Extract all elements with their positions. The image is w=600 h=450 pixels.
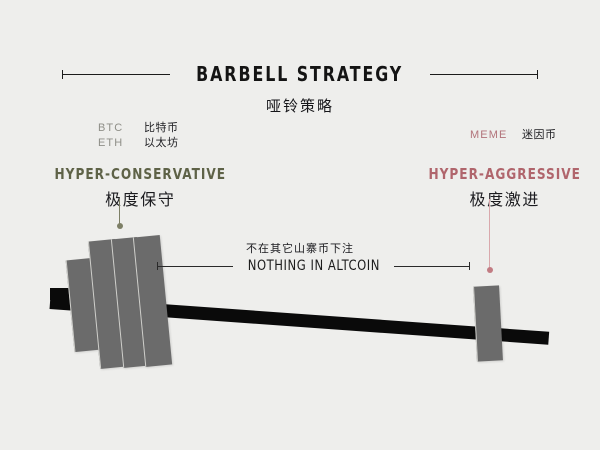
ticker-symbol: MEME <box>470 128 522 143</box>
ticker-symbol: ETH <box>98 136 144 151</box>
page-title-row: BARBELL STRATEGY <box>0 62 600 86</box>
ticker-name-cn: 以太坊 <box>144 136 179 151</box>
title-rule-left <box>62 74 170 75</box>
center-caption-cn: 不在其它山寨币下注 <box>0 240 600 256</box>
ticker-item-meme: MEME 迷因币 <box>470 128 557 143</box>
ticker-name-cn: 迷因币 <box>522 128 557 143</box>
center-caption-en: NOTHING IN ALTCOIN <box>247 258 379 274</box>
infographic-canvas: BARBELL STRATEGY 哑铃策略 BTC 比特币 ETH 以太坊 ME… <box>0 0 600 450</box>
label-hyper-aggressive-en: HYPER-AGGRESSIVE <box>428 165 580 183</box>
connector-dot-left <box>117 223 123 229</box>
weight-plate-left-3 <box>111 237 149 368</box>
weight-plate-right-1 <box>473 285 503 361</box>
connector-dot-right <box>487 267 493 273</box>
ticker-list-conservative: BTC 比特币 ETH 以太坊 <box>98 121 179 151</box>
center-rule-left <box>157 266 233 267</box>
center-rule-right <box>394 266 470 267</box>
label-hyper-conservative-en: HYPER-CONSERVATIVE <box>55 165 227 183</box>
label-hyper-aggressive-cn: 极度激进 <box>420 186 589 210</box>
connector-line-right <box>489 199 490 270</box>
ticker-list-aggressive: MEME 迷因币 <box>470 128 557 143</box>
ticker-item-eth: ETH 以太坊 <box>98 136 179 151</box>
ticker-item-btc: BTC 比特币 <box>98 121 179 136</box>
barbell-bar-end-cap-left <box>50 288 69 300</box>
page-subtitle: 哑铃策略 <box>0 95 600 116</box>
barbell-bar <box>50 296 550 345</box>
connector-line-left <box>119 199 120 226</box>
center-caption-row: NOTHING IN ALTCOIN <box>157 258 470 274</box>
label-hyper-conservative: HYPER-CONSERVATIVE 极度保守 <box>45 165 236 210</box>
weight-plate-left-2 <box>88 239 127 369</box>
label-hyper-aggressive: HYPER-AGGRESSIVE 极度激进 <box>420 165 589 210</box>
ticker-name-cn: 比特币 <box>144 121 179 136</box>
ticker-symbol: BTC <box>98 121 144 136</box>
label-hyper-conservative-cn: 极度保守 <box>45 186 236 210</box>
title-rule-right <box>430 74 538 75</box>
weight-plate-left-1 <box>66 258 102 352</box>
page-title: BARBELL STRATEGY <box>196 62 403 86</box>
